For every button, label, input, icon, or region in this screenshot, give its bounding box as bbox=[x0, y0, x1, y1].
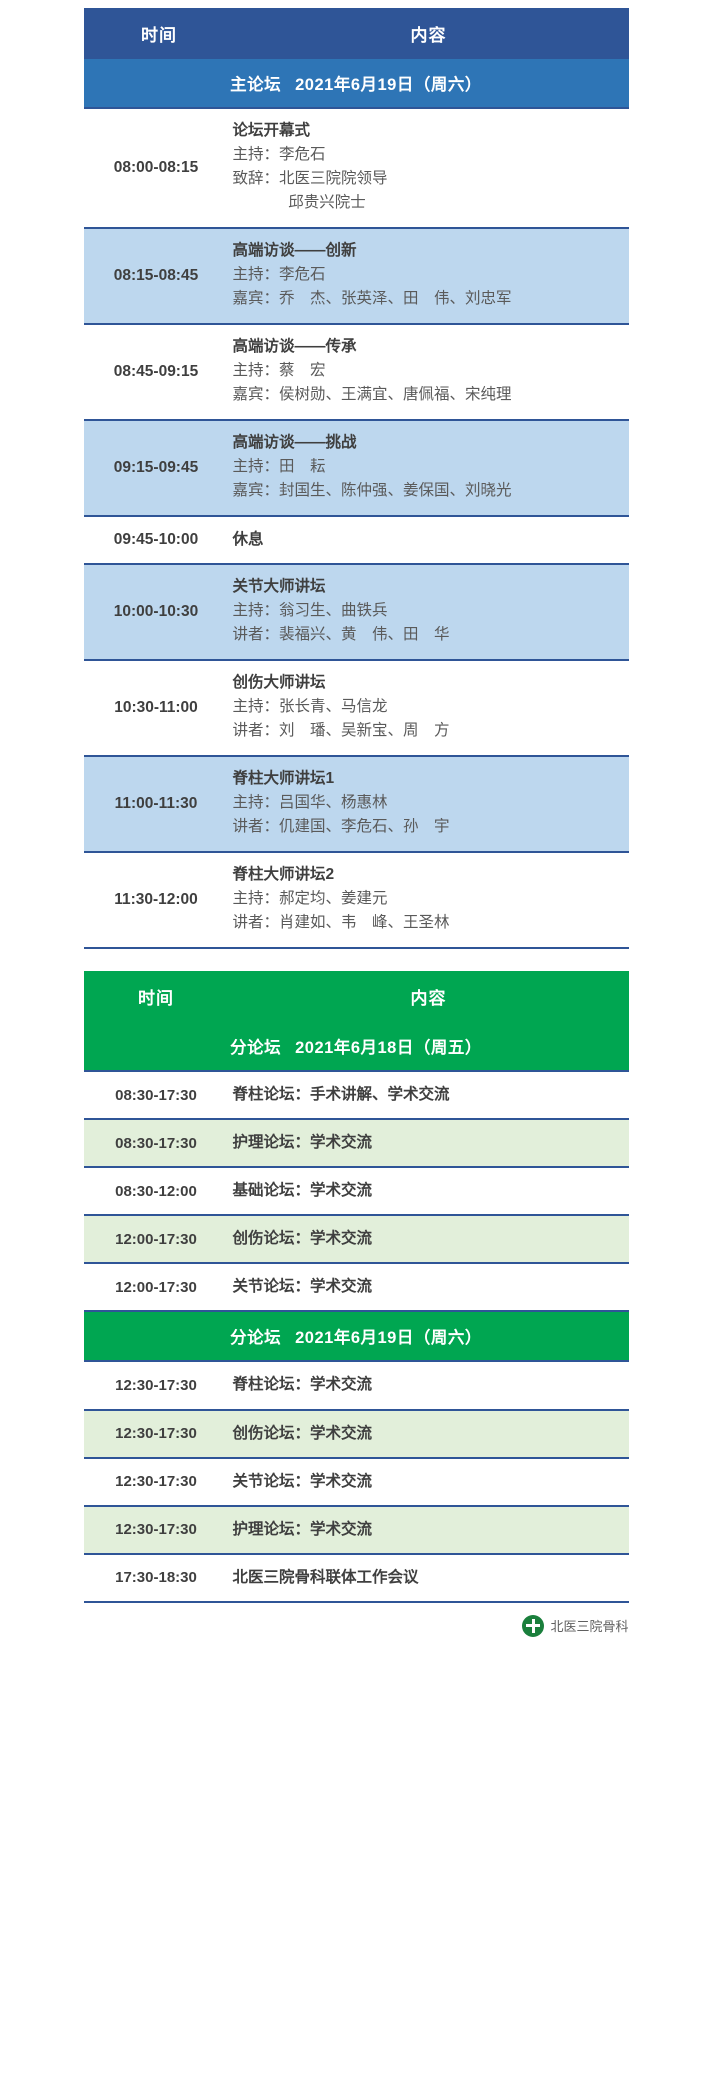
row-content: 关节大师讲坛 主持：翁习生、曲铁兵 讲者：裴福兴、黄 伟、田 华 bbox=[229, 564, 629, 660]
main-banner-label: 主论坛 bbox=[230, 76, 281, 94]
row-time: 10:00-10:30 bbox=[84, 564, 229, 660]
table-row: 12:30-17:30 关节论坛：学术交流 bbox=[84, 1458, 629, 1506]
sub-banner-friday-date: 2021年6月18日（周五） bbox=[295, 1039, 482, 1057]
row-title: 关节大师讲坛 bbox=[233, 575, 625, 599]
row-time: 08:00-08:15 bbox=[84, 108, 229, 228]
row-time: 09:45-10:00 bbox=[84, 516, 229, 564]
table-row: 12:00-17:30 关节论坛：学术交流 bbox=[84, 1263, 629, 1311]
row-content: 论坛开幕式 主持：李危石 致辞：北医三院院领导 邱贵兴院士 bbox=[229, 108, 629, 228]
row-line: 讲者：仉建国、李危石、孙 宇 bbox=[233, 815, 625, 839]
table-row: 17:30-18:30 北医三院骨科联体工作会议 bbox=[84, 1554, 629, 1602]
row-content: 护理论坛：学术交流 bbox=[229, 1119, 629, 1167]
sub-header-time: 时间 bbox=[84, 971, 229, 1022]
row-title: 高端访谈——创新 bbox=[233, 239, 625, 263]
row-line: 讲者：裴福兴、黄 伟、田 华 bbox=[233, 623, 625, 647]
row-title: 创伤大师讲坛 bbox=[233, 671, 625, 695]
row-time: 12:30-17:30 bbox=[84, 1361, 229, 1409]
row-line: 主持：李危石 bbox=[233, 143, 625, 167]
sub-header-content: 内容 bbox=[229, 971, 629, 1022]
row-line: 主持：田 耘 bbox=[233, 455, 625, 479]
main-banner-date: 2021年6月19日（周六） bbox=[295, 76, 482, 94]
footer: 北医三院骨科 bbox=[84, 1603, 629, 1653]
row-time: 08:30-12:00 bbox=[84, 1167, 229, 1215]
row-line-indented: 邱贵兴院士 bbox=[233, 191, 625, 215]
row-line: 嘉宾：侯树勋、王满宜、唐佩福、宋纯理 bbox=[233, 383, 625, 407]
row-time: 12:00-17:30 bbox=[84, 1263, 229, 1311]
row-time: 12:30-17:30 bbox=[84, 1410, 229, 1458]
row-content: 高端访谈——传承 主持：蔡 宏 嘉宾：侯树勋、王满宜、唐佩福、宋纯理 bbox=[229, 324, 629, 420]
row-title: 高端访谈——挑战 bbox=[233, 431, 625, 455]
main-header-time: 时间 bbox=[84, 8, 229, 59]
row-time: 17:30-18:30 bbox=[84, 1554, 229, 1602]
row-line: 嘉宾：乔 杰、张英泽、田 伟、刘忠军 bbox=[233, 287, 625, 311]
row-line: 嘉宾：封国生、陈仲强、姜保国、刘晓光 bbox=[233, 479, 625, 503]
row-content: 休息 bbox=[229, 516, 629, 564]
row-title: 脊柱大师讲坛1 bbox=[233, 767, 625, 791]
row-line: 主持：翁习生、曲铁兵 bbox=[233, 599, 625, 623]
row-content: 护理论坛：学术交流 bbox=[229, 1506, 629, 1554]
row-content: 脊柱大师讲坛1 主持：吕国华、杨惠林 讲者：仉建国、李危石、孙 宇 bbox=[229, 756, 629, 852]
row-title: 脊柱大师讲坛2 bbox=[233, 863, 625, 887]
row-time: 08:15-08:45 bbox=[84, 228, 229, 324]
row-time: 09:15-09:45 bbox=[84, 420, 229, 516]
row-content: 北医三院骨科联体工作会议 bbox=[229, 1554, 629, 1602]
row-time: 12:30-17:30 bbox=[84, 1458, 229, 1506]
row-time: 12:00-17:30 bbox=[84, 1215, 229, 1263]
row-line: 讲者：刘 璠、吴新宝、周 方 bbox=[233, 719, 625, 743]
row-line: 主持：蔡 宏 bbox=[233, 359, 625, 383]
sub-banner-saturday-date: 2021年6月19日（周六） bbox=[295, 1329, 482, 1347]
row-time: 12:30-17:30 bbox=[84, 1506, 229, 1554]
table-row: 08:30-17:30 脊柱论坛：手术讲解、学术交流 bbox=[84, 1071, 629, 1119]
row-content: 关节论坛：学术交流 bbox=[229, 1458, 629, 1506]
sub-banner-saturday-label: 分论坛 bbox=[230, 1329, 281, 1347]
hospital-logo-icon bbox=[522, 1615, 544, 1637]
account-badge[interactable]: 北医三院骨科 bbox=[522, 1615, 628, 1637]
main-forum-header-row: 时间 内容 bbox=[84, 8, 629, 59]
row-time: 08:30-17:30 bbox=[84, 1119, 229, 1167]
table-row: 12:00-17:30 创伤论坛：学术交流 bbox=[84, 1215, 629, 1263]
row-title: 论坛开幕式 bbox=[233, 119, 625, 143]
row-content: 关节论坛：学术交流 bbox=[229, 1263, 629, 1311]
row-line: 主持：李危石 bbox=[233, 263, 625, 287]
account-name: 北医三院骨科 bbox=[550, 1616, 628, 1635]
sub-forum-table: 时间 内容 分论坛2021年6月18日（周五） 08:30-17:30 脊柱论坛… bbox=[84, 971, 629, 1602]
sub-forum-header-row: 时间 内容 bbox=[84, 971, 629, 1022]
row-content: 创伤论坛：学术交流 bbox=[229, 1410, 629, 1458]
table-row: 09:45-10:00 休息 bbox=[84, 516, 629, 564]
row-time: 08:30-17:30 bbox=[84, 1071, 229, 1119]
row-content: 创伤论坛：学术交流 bbox=[229, 1215, 629, 1263]
table-row: 08:30-17:30 护理论坛：学术交流 bbox=[84, 1119, 629, 1167]
row-line: 主持：吕国华、杨惠林 bbox=[233, 791, 625, 815]
sub-banner-friday-label: 分论坛 bbox=[230, 1039, 281, 1057]
row-content: 脊柱论坛：手术讲解、学术交流 bbox=[229, 1071, 629, 1119]
sub-forum-body: 时间 内容 分论坛2021年6月18日（周五） 08:30-17:30 脊柱论坛… bbox=[84, 971, 629, 1601]
table-row: 10:00-10:30 关节大师讲坛 主持：翁习生、曲铁兵 讲者：裴福兴、黄 伟… bbox=[84, 564, 629, 660]
table-row: 10:30-11:00 创伤大师讲坛 主持：张长青、马信龙 讲者：刘 璠、吴新宝… bbox=[84, 660, 629, 756]
main-header-content: 内容 bbox=[229, 8, 629, 59]
schedule-page: 时间 内容 主论坛2021年6月19日（周六） 08:00-08:15 论坛开幕… bbox=[0, 0, 712, 1653]
sub-forum-banner-saturday: 分论坛2021年6月19日（周六） bbox=[84, 1311, 629, 1361]
table-row: 11:30-12:00 脊柱大师讲坛2 主持：郝定均、姜建元 讲者：肖建如、韦 … bbox=[84, 852, 629, 948]
main-forum-banner-row: 主论坛2021年6月19日（周六） bbox=[84, 59, 629, 108]
table-row: 12:30-17:30 护理论坛：学术交流 bbox=[84, 1506, 629, 1554]
table-row: 08:30-12:00 基础论坛：学术交流 bbox=[84, 1167, 629, 1215]
table-row: 11:00-11:30 脊柱大师讲坛1 主持：吕国华、杨惠林 讲者：仉建国、李危… bbox=[84, 756, 629, 852]
row-time: 11:00-11:30 bbox=[84, 756, 229, 852]
table-row: 08:15-08:45 高端访谈——创新 主持：李危石 嘉宾：乔 杰、张英泽、田… bbox=[84, 228, 629, 324]
row-title: 高端访谈——传承 bbox=[233, 335, 625, 359]
row-content: 脊柱论坛：学术交流 bbox=[229, 1361, 629, 1409]
row-time: 10:30-11:00 bbox=[84, 660, 229, 756]
table-row: 08:45-09:15 高端访谈——传承 主持：蔡 宏 嘉宾：侯树勋、王满宜、唐… bbox=[84, 324, 629, 420]
row-line: 主持：张长青、马信龙 bbox=[233, 695, 625, 719]
sub-forum-banner-friday-row: 分论坛2021年6月18日（周五） bbox=[84, 1022, 629, 1071]
row-time: 11:30-12:00 bbox=[84, 852, 229, 948]
row-content: 高端访谈——创新 主持：李危石 嘉宾：乔 杰、张英泽、田 伟、刘忠军 bbox=[229, 228, 629, 324]
table-row: 12:30-17:30 脊柱论坛：学术交流 bbox=[84, 1361, 629, 1409]
row-line: 主持：郝定均、姜建元 bbox=[233, 887, 625, 911]
row-line: 讲者：肖建如、韦 峰、王圣林 bbox=[233, 911, 625, 935]
main-forum-body: 时间 内容 主论坛2021年6月19日（周六） 08:00-08:15 论坛开幕… bbox=[84, 8, 629, 948]
table-spacer bbox=[0, 949, 712, 971]
table-row: 09:15-09:45 高端访谈——挑战 主持：田 耘 嘉宾：封国生、陈仲强、姜… bbox=[84, 420, 629, 516]
main-forum-table: 时间 内容 主论坛2021年6月19日（周六） 08:00-08:15 论坛开幕… bbox=[84, 8, 629, 949]
sub-forum-banner-friday: 分论坛2021年6月18日（周五） bbox=[84, 1022, 629, 1071]
row-content: 创伤大师讲坛 主持：张长青、马信龙 讲者：刘 璠、吴新宝、周 方 bbox=[229, 660, 629, 756]
table-row: 08:00-08:15 论坛开幕式 主持：李危石 致辞：北医三院院领导 邱贵兴院… bbox=[84, 108, 629, 228]
row-content: 高端访谈——挑战 主持：田 耘 嘉宾：封国生、陈仲强、姜保国、刘晓光 bbox=[229, 420, 629, 516]
row-content: 基础论坛：学术交流 bbox=[229, 1167, 629, 1215]
table-row: 12:30-17:30 创伤论坛：学术交流 bbox=[84, 1410, 629, 1458]
main-forum-banner: 主论坛2021年6月19日（周六） bbox=[84, 59, 629, 108]
row-content: 脊柱大师讲坛2 主持：郝定均、姜建元 讲者：肖建如、韦 峰、王圣林 bbox=[229, 852, 629, 948]
sub-forum-banner-saturday-row: 分论坛2021年6月19日（周六） bbox=[84, 1311, 629, 1361]
row-time: 08:45-09:15 bbox=[84, 324, 229, 420]
row-line: 致辞：北医三院院领导 bbox=[233, 167, 625, 191]
